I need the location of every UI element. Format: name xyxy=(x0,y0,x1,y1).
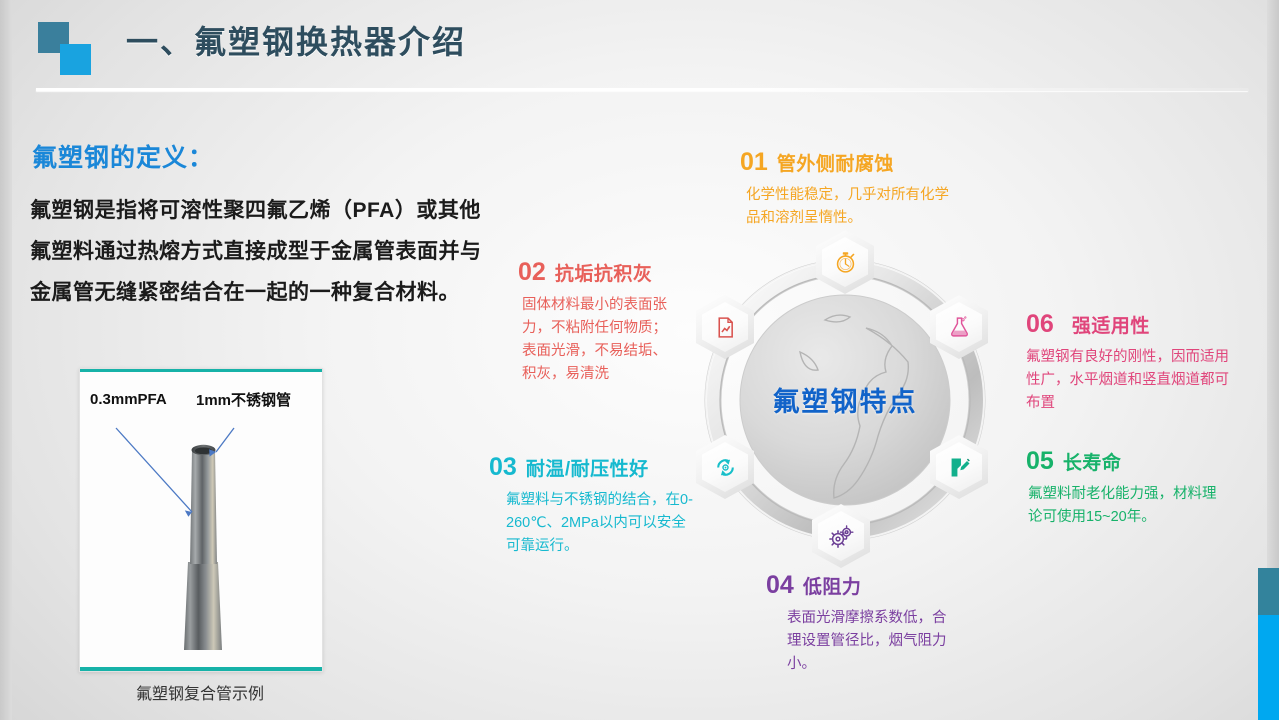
feature-block-06: 06强适用性 氟塑钢有良好的刚性，因而适用性广，水平烟道和竖直烟道都可布置 xyxy=(1026,310,1242,415)
photo-image xyxy=(80,372,322,667)
hex-edit-document[interactable] xyxy=(930,435,988,499)
feature-heading: 01管外侧耐腐蚀 xyxy=(740,148,958,177)
feature-title: 耐温/耐压性好 xyxy=(526,459,649,480)
feature-heading: 04低阻力 xyxy=(766,571,959,600)
photo-bottom-rule xyxy=(80,667,322,671)
feature-number: 01 xyxy=(740,148,768,176)
features-ring-diagram: 氟塑钢特点 xyxy=(680,232,1010,572)
feature-title: 长寿命 xyxy=(1063,453,1122,474)
feature-number: 04 xyxy=(766,571,794,599)
left-edge-strip xyxy=(0,0,12,720)
hex-flask[interactable] xyxy=(930,295,988,359)
feature-description: 氟塑料耐老化能力强，材料理论可使用15~20年。 xyxy=(1028,483,1218,529)
slide-canvas: 一、氟塑钢换热器介绍 氟塑钢的定义： 氟塑钢是指将可溶性聚四氟乙烯（PFA）或其… xyxy=(0,0,1279,720)
photo-label-steel-pipe: 1mm不锈钢管 xyxy=(196,389,291,410)
hex-stopwatch[interactable] xyxy=(816,230,874,294)
feature-heading: 03耐温/耐压性好 xyxy=(489,453,696,482)
feature-block-05: 05长寿命 氟塑料耐老化能力强，材料理论可使用15~20年。 xyxy=(1026,447,1218,529)
ring-center-title: 氟塑钢特点 xyxy=(680,380,1010,419)
feature-block-03: 03耐温/耐压性好 氟塑料与不锈钢的结合，在0-260℃、2MPa以内可以安全可… xyxy=(489,453,696,558)
feature-description: 氟塑钢有良好的刚性，因而适用性广，水平烟道和竖直烟道都可布置 xyxy=(1026,346,1242,415)
composite-pipe-photo-card: 0.3mmPFA 1mm不锈钢管 xyxy=(79,368,323,672)
pipe-illustration xyxy=(80,372,320,667)
stopwatch-icon xyxy=(833,250,858,275)
feature-number: 02 xyxy=(518,258,546,286)
hex-recycle[interactable] xyxy=(696,435,754,499)
feature-description: 化学性能稳定，几乎对所有化学品和溶剂呈惰性。 xyxy=(746,184,958,230)
feature-number: 06 xyxy=(1026,310,1054,338)
definition-paragraph: 氟塑钢是指将可溶性聚四氟乙烯（PFA）或其他氟塑料通过热熔方式直接成型于金属管表… xyxy=(30,190,490,313)
definition-heading: 氟塑钢的定义： xyxy=(32,138,214,174)
hex-gears[interactable] xyxy=(812,504,870,568)
feature-heading: 06强适用性 xyxy=(1026,310,1242,339)
recycle-icon xyxy=(713,455,738,480)
feature-number: 05 xyxy=(1026,447,1054,475)
feature-heading: 02抗垢抗积灰 xyxy=(518,258,674,287)
feature-description: 氟塑料与不锈钢的结合，在0-260℃、2MPa以内可以安全可靠运行。 xyxy=(506,489,696,558)
right-accent-blue xyxy=(1258,615,1279,720)
feature-title: 强适用性 xyxy=(1072,316,1150,337)
header-divider xyxy=(36,88,1248,91)
feature-number: 03 xyxy=(489,453,517,481)
hex-chart-document[interactable] xyxy=(696,295,754,359)
feature-description: 固体材料最小的表面张力，不粘附任何物质；表面光滑，不易结垢、积灰，易清洗 xyxy=(522,294,674,386)
right-accent-teal xyxy=(1258,568,1279,615)
gears-icon xyxy=(828,523,854,549)
feature-block-01: 01管外侧耐腐蚀 化学性能稳定，几乎对所有化学品和溶剂呈惰性。 xyxy=(740,148,958,230)
page-title: 一、氟塑钢换热器介绍 xyxy=(126,17,466,63)
edit-document-icon xyxy=(947,455,972,480)
feature-heading: 05长寿命 xyxy=(1026,447,1218,476)
feature-block-04: 04低阻力 表面光滑摩擦系数低，合理设置管径比，烟气阻力小。 xyxy=(766,571,959,676)
feature-block-02: 02抗垢抗积灰 固体材料最小的表面张力，不粘附任何物质；表面光滑，不易结垢、积灰… xyxy=(518,258,674,386)
feature-title: 低阻力 xyxy=(803,577,862,598)
flask-icon xyxy=(947,315,972,340)
photo-label-pfa: 0.3mmPFA xyxy=(90,391,167,408)
photo-caption: 氟塑钢复合管示例 xyxy=(79,680,321,704)
chart-document-icon xyxy=(713,315,738,340)
header-square-bright xyxy=(60,44,91,75)
feature-title: 管外侧耐腐蚀 xyxy=(777,154,894,175)
feature-title: 抗垢抗积灰 xyxy=(555,264,653,285)
feature-description: 表面光滑摩擦系数低，合理设置管径比，烟气阻力小。 xyxy=(787,607,959,676)
